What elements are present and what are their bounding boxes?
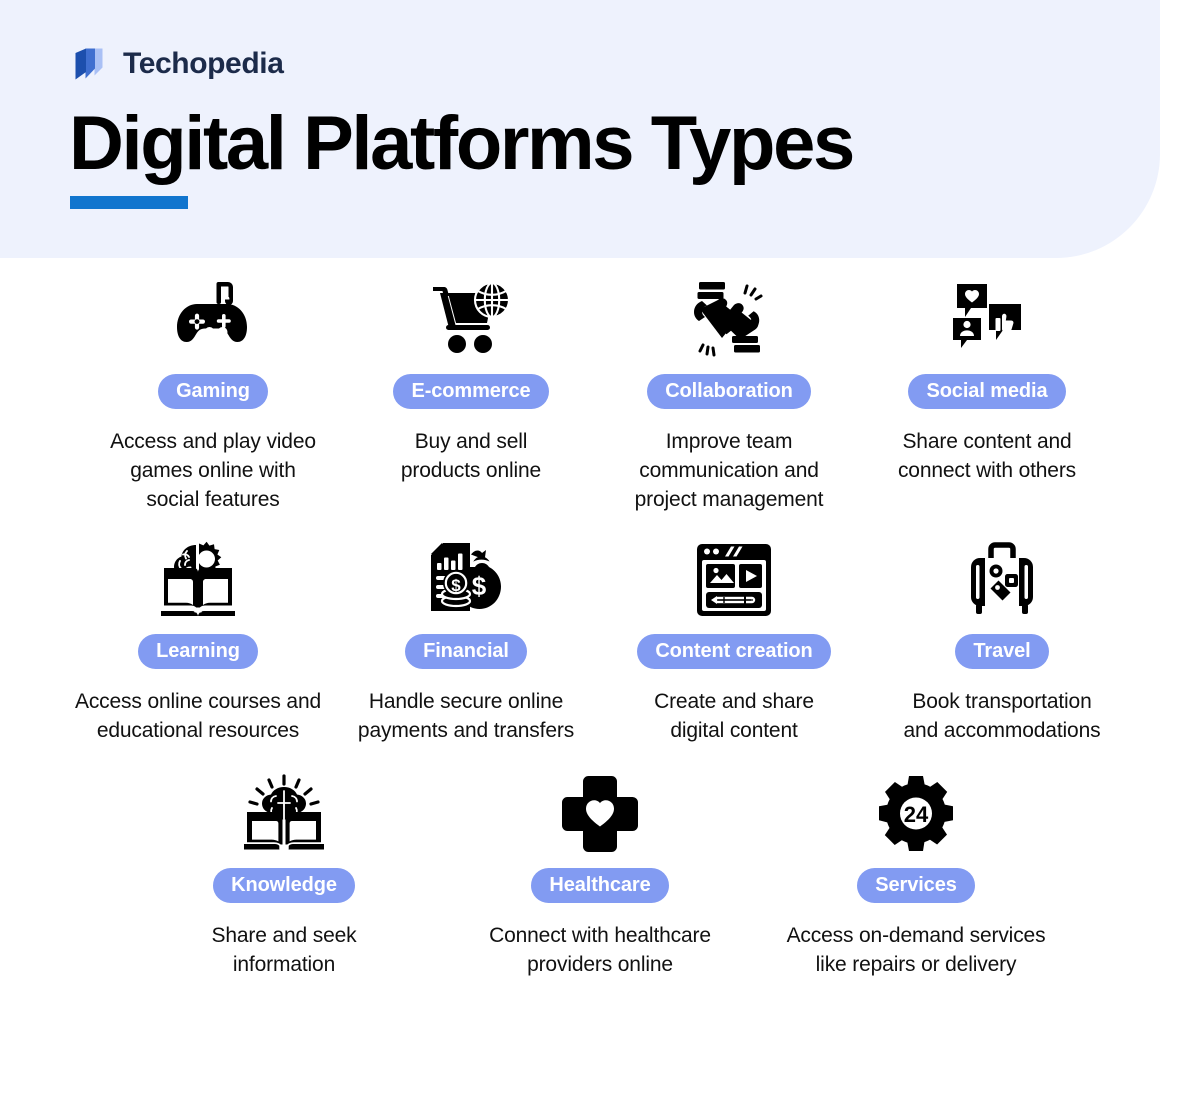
platform-card-social-media: Social media Share content and connect w…: [858, 274, 1116, 486]
shopping-cart-globe-icon: [429, 274, 513, 366]
puzzle-hands-icon: [686, 274, 772, 366]
card-description: Access online courses and educational re…: [75, 688, 321, 746]
platform-card-collaboration: Collaboration Improve team communication…: [600, 274, 858, 514]
grid-row: Learning Access online courses and educa…: [0, 514, 1200, 746]
platform-card-content-creation: Content creation Create and share digita…: [600, 534, 868, 746]
badge-label[interactable]: Travel: [955, 634, 1048, 669]
badge-label[interactable]: Financial: [405, 634, 527, 669]
game-controller-icon: [171, 274, 255, 366]
badge-label[interactable]: Gaming: [158, 374, 268, 409]
badge-label[interactable]: Knowledge: [213, 868, 355, 903]
card-description: Book transportation and accommodations: [904, 688, 1101, 746]
finance-report-money-icon: $ $: [425, 534, 507, 626]
badge-label[interactable]: Content creation: [637, 634, 830, 669]
card-description: Handle secure online payments and transf…: [358, 688, 574, 746]
badge-label[interactable]: E-commerce: [393, 374, 548, 409]
grid-row: Knowledge Share and seek information Hea…: [0, 746, 1200, 980]
badge-label[interactable]: Learning: [138, 634, 258, 669]
card-description: Access and play video games online with …: [110, 428, 316, 514]
platform-card-knowledge: Knowledge Share and seek information: [126, 768, 442, 980]
svg-text:$: $: [451, 576, 461, 595]
card-description: Share content and connect with others: [898, 428, 1076, 486]
badge-label[interactable]: Collaboration: [647, 374, 811, 409]
book-brain-gear-icon: [156, 534, 240, 626]
book-brain-idea-icon: [241, 768, 327, 860]
svg-text:$: $: [472, 571, 487, 601]
badge-label[interactable]: Healthcare: [531, 868, 668, 903]
platform-card-learning: Learning Access online courses and educa…: [64, 534, 332, 746]
card-description: Create and share digital content: [654, 688, 814, 746]
card-description: Access on-demand services like repairs o…: [787, 922, 1046, 980]
medical-cross-heart-icon: [560, 768, 640, 860]
badge-label[interactable]: Social media: [908, 374, 1065, 409]
title-underline-rule: [70, 196, 188, 209]
brand-name: Techopedia: [123, 49, 283, 79]
card-description: Improve team communication and project m…: [635, 428, 824, 514]
platform-card-gaming: Gaming Access and play video games onlin…: [84, 274, 342, 514]
platform-card-services: 24 Services Access on-demand services li…: [758, 768, 1074, 980]
platform-card-financial: $ $ Financial Handle secure online payme…: [332, 534, 600, 746]
techopedia-layers-logo-icon: [69, 44, 109, 84]
header-banner: Techopedia Digital Platforms Types: [0, 0, 1160, 258]
brand: Techopedia: [69, 44, 283, 84]
speech-bubbles-icon: [945, 274, 1029, 366]
svg-text:24: 24: [904, 802, 929, 827]
platform-card-healthcare: Healthcare Connect with healthcare provi…: [442, 768, 758, 980]
platform-types-grid: Gaming Access and play video games onlin…: [0, 258, 1200, 979]
card-description: Share and seek information: [211, 922, 356, 980]
platform-card-e-commerce: E-commerce Buy and sell products online: [342, 274, 600, 486]
grid-row: Gaming Access and play video games onlin…: [0, 258, 1200, 514]
platform-card-travel: Travel Book transportation and accommoda…: [868, 534, 1136, 746]
card-description: Buy and sell products online: [401, 428, 541, 486]
badge-label[interactable]: Services: [857, 868, 975, 903]
gear-24-icon: 24: [876, 768, 956, 860]
card-description: Connect with healthcare providers online: [489, 922, 711, 980]
page-title: Digital Platforms Types: [69, 104, 853, 185]
suitcase-icon: [963, 534, 1041, 626]
browser-media-pencil-icon: [693, 534, 775, 626]
